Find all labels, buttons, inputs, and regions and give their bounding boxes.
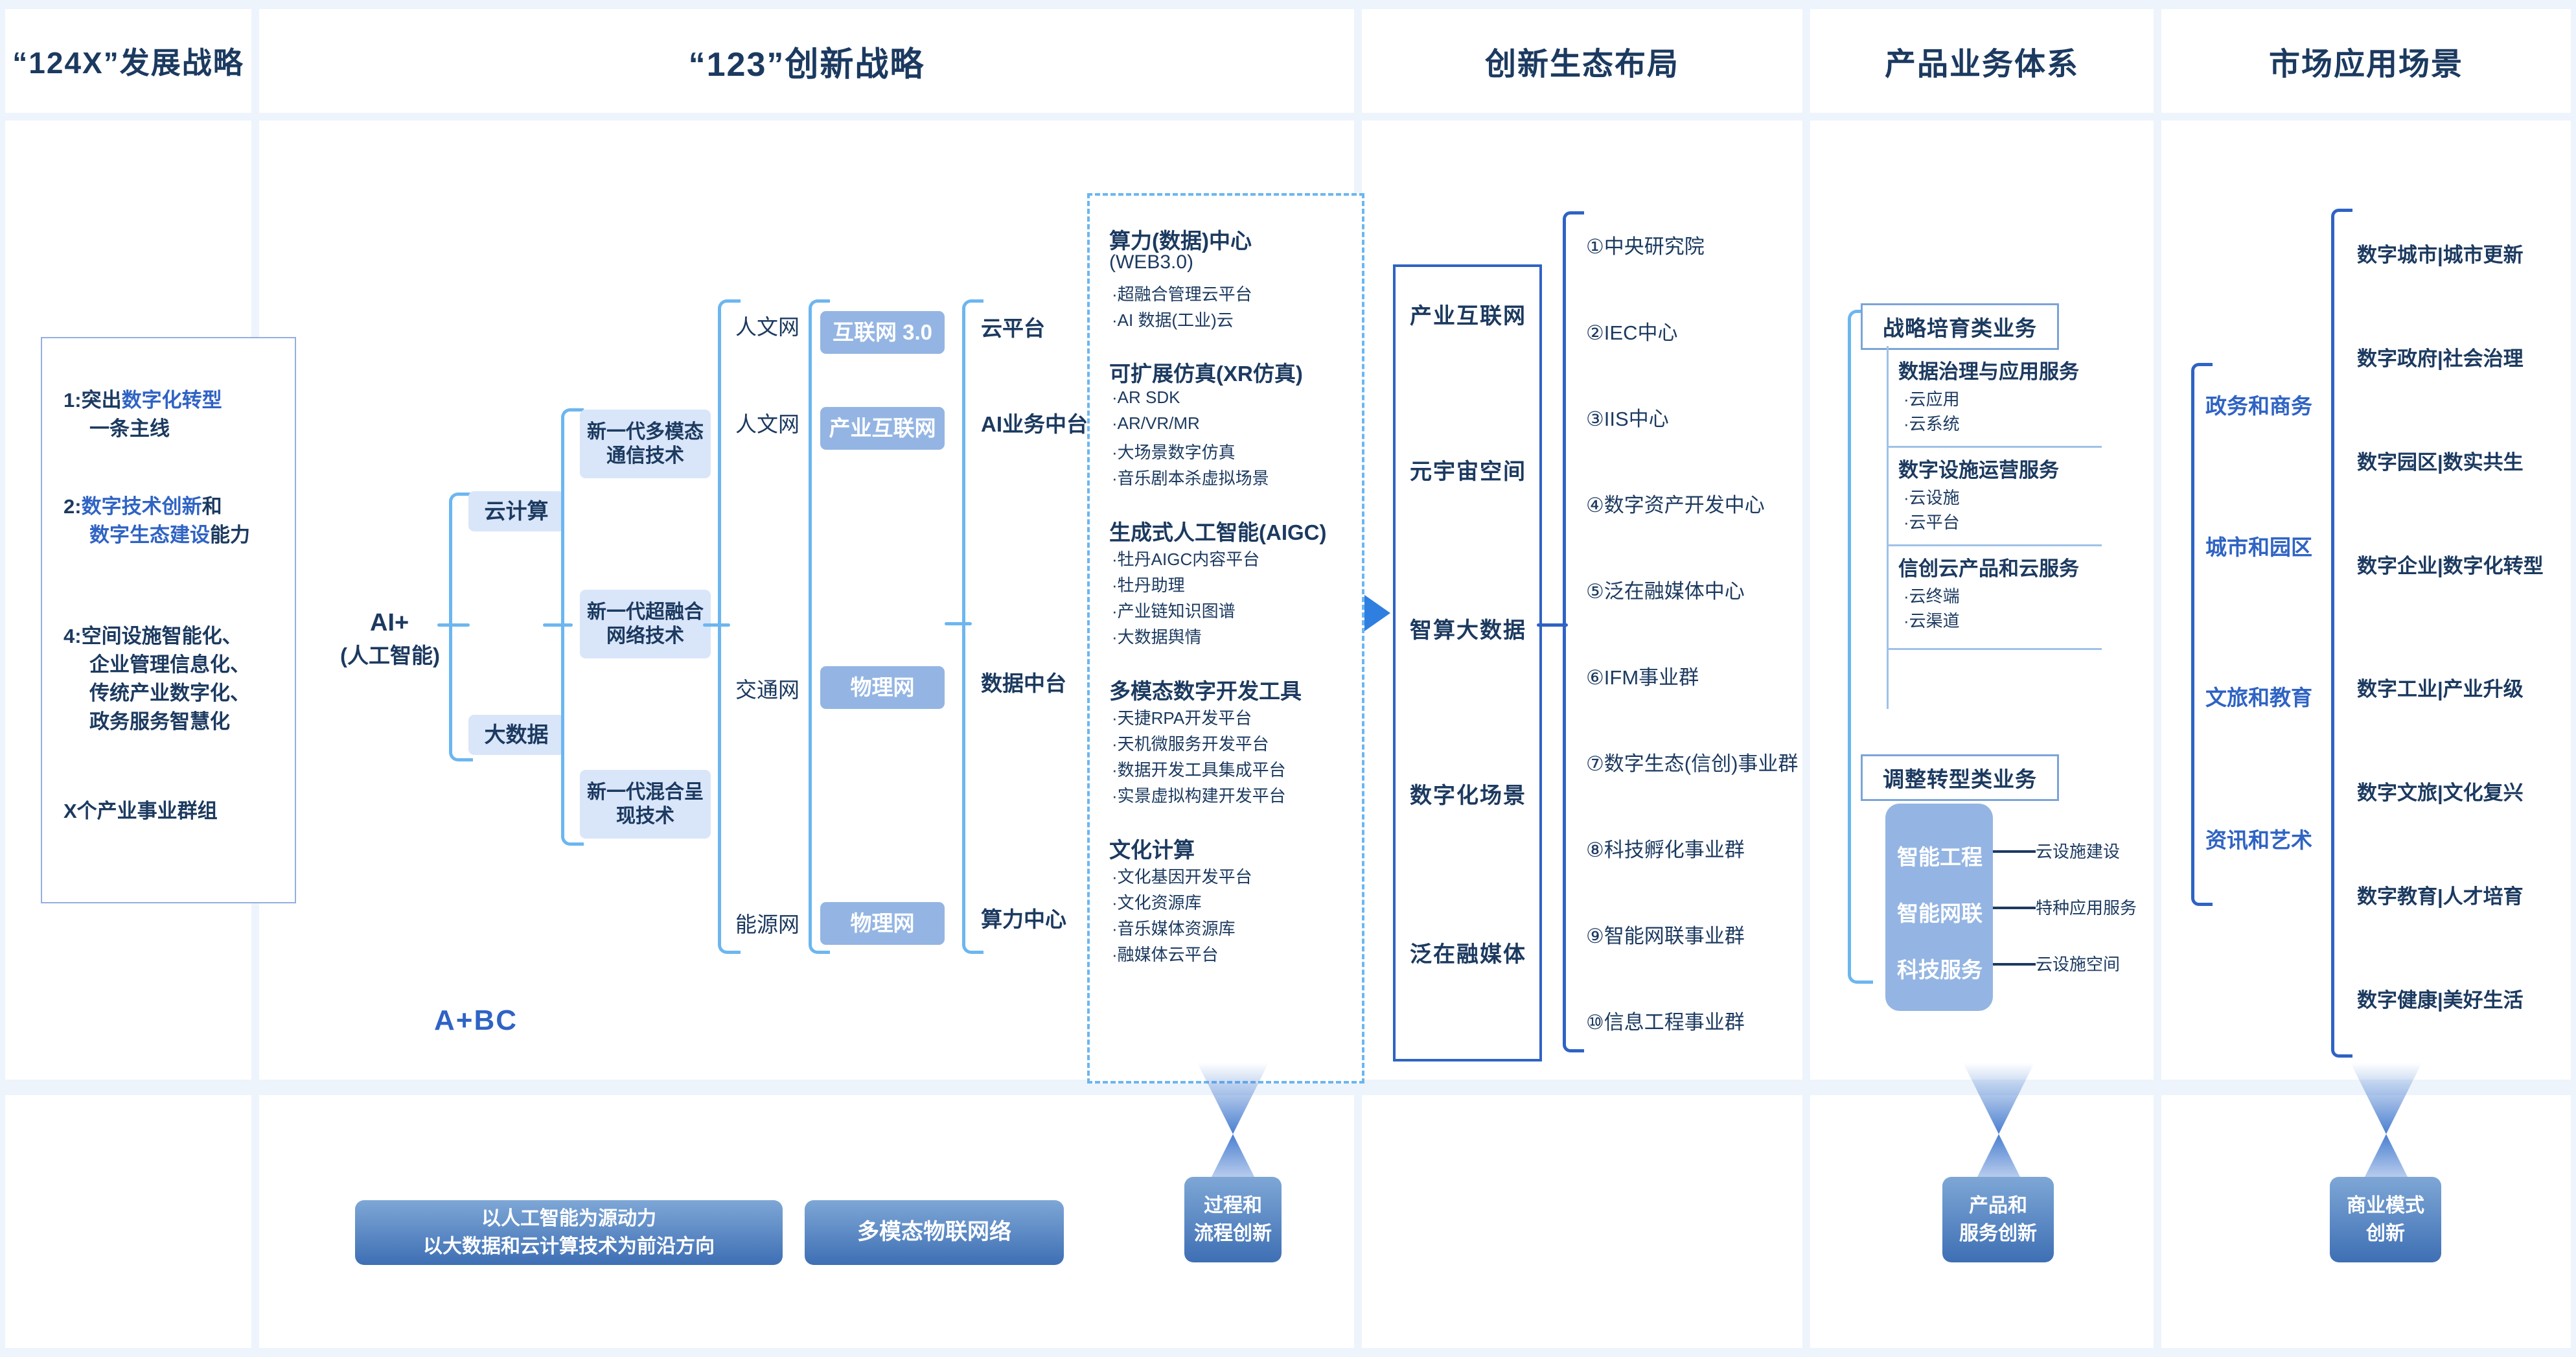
category-strategic-cultivation-label: 战略培育类业务 <box>1883 311 2037 342</box>
platform-label-2: AI业务中台 <box>981 407 1088 438</box>
service-divider-3 <box>1887 648 2102 650</box>
dev-strategy-line-3: 2:数字技术创新和 <box>63 493 222 521</box>
transform-connector-2 <box>1993 907 2036 909</box>
detail-item-5-3: ·音乐媒体资源库 <box>1112 916 1236 940</box>
dev-strategy-line-2: 一条主线 <box>89 415 170 443</box>
market-group-4[interactable]: 资讯和艺术 <box>2205 823 2312 854</box>
dev-strategy-num-2: 2: <box>63 495 82 518</box>
transform-chip-2[interactable]: 智能网联 <box>1897 896 1983 927</box>
column-title-innov-strategy: “123”创新战略 <box>259 9 1354 113</box>
transform-text-2: 特种应用服务 <box>2036 895 2137 919</box>
chip-tech-hybrid-rendering-label: 新一代混合呈现技术 <box>584 780 707 829</box>
market-item-6[interactable]: 数字文旅|文化复兴 <box>2357 776 2524 806</box>
chip-big-data[interactable]: 大数据 <box>468 715 564 755</box>
dev-strategy-line-5: 4:空间设施智能化、 <box>63 622 242 651</box>
eco-pillar-3[interactable]: 智算大数据 <box>1410 612 1526 644</box>
market-item-8[interactable]: 数字健康|美好生活 <box>2357 984 2524 1013</box>
footer-box-process-innovation[interactable]: 过程和 流程创新 <box>1184 1177 1282 1262</box>
footer-box-multimodal-iot[interactable]: 多模态物联网络 <box>805 1200 1064 1265</box>
market-item-5[interactable]: 数字工业|产业升级 <box>2357 673 2524 702</box>
transform-connector-3 <box>1993 963 2036 966</box>
detail-item-1-2: ·AI 数据(工业)云 <box>1112 307 1234 331</box>
service-item-1-1: ·云应用 <box>1903 386 1960 410</box>
footer-box-ai-driver[interactable]: 以人工智能为源动力 以大数据和云计算技术为前沿方向 <box>355 1200 783 1265</box>
footer-product-line1: 产品和 <box>1959 1192 2037 1220</box>
network-label-2: 人文网 <box>735 407 799 438</box>
detail-item-3-4: ·大数据舆情 <box>1112 624 1202 648</box>
service-divider-2 <box>1887 544 2102 546</box>
service-title-1: 数据治理与应用服务 <box>1898 355 2079 384</box>
dev-strategy-accent-3: 数字生态建设 <box>89 524 210 546</box>
footer-ai-l2-pre: 以 <box>423 1236 443 1257</box>
detail-block-title-5: 文化计算 <box>1109 833 1195 864</box>
market-item-1[interactable]: 数字城市|城市更新 <box>2357 238 2524 268</box>
footer-process-line1: 过程和 <box>1194 1192 1272 1220</box>
market-item-4[interactable]: 数字企业|数字化转型 <box>2357 550 2544 579</box>
category-adjust-transform[interactable]: 调整转型类业务 <box>1861 754 2059 801</box>
transform-text-3: 云设施空间 <box>2036 951 2120 975</box>
eco-unit-6[interactable]: ⑥IFM事业群 <box>1586 661 1699 690</box>
detail-block-title-2: 可扩展仿真(XR仿真) <box>1109 356 1303 388</box>
market-item-2[interactable]: 数字政府|社会治理 <box>2357 342 2524 371</box>
dev-strategy-accent-1: 数字化转型 <box>122 389 222 412</box>
footer-ai-l2-post: 技术为前沿方向 <box>579 1236 715 1257</box>
footer-ai-l2-b2: 云计算 <box>520 1236 579 1257</box>
bracket-nets <box>809 299 830 954</box>
platform-label-1: 云平台 <box>981 311 1045 342</box>
eco-unit-4[interactable]: ④数字资产开发中心 <box>1586 489 1765 518</box>
service-item-3-2: ·云渠道 <box>1903 608 1960 632</box>
eco-pillar-1[interactable]: 产业互联网 <box>1410 298 1526 330</box>
dev-strategy-line-6: 企业管理信息化、 <box>89 651 250 679</box>
detail-item-2-3: ·大场景数字仿真 <box>1112 439 1236 463</box>
innov-root-sublabel: (人工智能) <box>340 638 440 669</box>
transform-connector-1 <box>1993 850 2036 853</box>
detail-block-title-1: 算力(数据)中心 <box>1109 224 1252 255</box>
market-item-3[interactable]: 数字园区|数实共生 <box>2357 446 2524 475</box>
footer-multimodal-iot-label: 多模态物联网络 <box>857 1216 1011 1248</box>
network-label-3: 交通网 <box>735 673 799 704</box>
chip-physical-net-2[interactable]: 物理网 <box>820 902 945 945</box>
market-item-7[interactable]: 数字教育|人才培育 <box>2357 880 2524 909</box>
service-item-3-1: ·云终端 <box>1903 583 1960 607</box>
innov-root-label: AI+ <box>370 609 409 637</box>
innov-footnote-abc: A+BC <box>434 1004 518 1037</box>
column-title-product-system: 产品业务体系 <box>1810 9 2154 113</box>
chip-industrial-internet[interactable]: 产业互联网 <box>820 407 945 450</box>
eco-pillar-5[interactable]: 泛在融媒体 <box>1410 936 1526 968</box>
dev-strategy-num-1: 1: <box>63 389 82 412</box>
dev-strategy-line-9: X个产业事业群组 <box>63 797 218 826</box>
footer-business-line1: 商业模式 <box>2347 1192 2424 1220</box>
chip-physical-net-1[interactable]: 物理网 <box>820 666 945 709</box>
column-title-eco-layout: 创新生态布局 <box>1362 9 1802 113</box>
detail-block-subtitle-1: (WEB3.0) <box>1109 251 1193 273</box>
dev-strategy-line-1: 1:突出数字化转型 <box>63 386 222 415</box>
column-title-dev-strategy: “124X”发展战略 <box>5 9 251 113</box>
detail-item-4-3: ·数据开发工具集成平台 <box>1112 757 1286 781</box>
transform-chip-3[interactable]: 科技服务 <box>1897 953 1983 984</box>
network-label-4: 能源网 <box>735 907 799 938</box>
footer-ai-l2-b1: 大数据 <box>443 1236 501 1257</box>
panel-eco-layout-foot <box>1362 1095 1802 1348</box>
chip-tech-hyperconverged-net[interactable]: 新一代超融合网络技术 <box>580 590 711 658</box>
service-title-2: 数字设施运营服务 <box>1898 454 2059 483</box>
diagram-canvas: “124X”发展战略 “123”创新战略 创新生态布局 产品业务体系 市场应用场… <box>0 0 2576 1357</box>
service-item-2-2: ·云平台 <box>1903 509 1960 533</box>
detail-item-5-2: ·文化资源库 <box>1112 890 1202 914</box>
detail-item-5-4: ·融媒体云平台 <box>1112 942 1219 966</box>
eco-unit-8[interactable]: ⑧科技孵化事业群 <box>1586 833 1745 863</box>
chip-tech-hybrid-rendering[interactable]: 新一代混合呈现技术 <box>580 770 711 839</box>
dev-strategy-text-3: 能力 <box>210 524 250 546</box>
footer-ai-l2-mid: 和 <box>501 1236 520 1257</box>
eco-unit-7[interactable]: ⑦数字生态(信创)事业群 <box>1586 747 1798 776</box>
dev-strategy-accent-2: 数字技术创新 <box>82 495 202 518</box>
detail-item-4-4: ·实景虚拟构建开发平台 <box>1112 783 1286 807</box>
dev-strategy-line-7: 传统产业数字化、 <box>89 679 250 708</box>
eco-unit-1[interactable]: ①中央研究院 <box>1586 230 1705 259</box>
eco-unit-9[interactable]: ⑨智能网联事业群 <box>1586 920 1745 949</box>
market-group-3[interactable]: 文旅和教育 <box>2205 680 2312 712</box>
category-strategic-cultivation[interactable]: 战略培育类业务 <box>1861 303 2059 350</box>
chip-tech-multimodal-comm-label: 新一代多模态通信技术 <box>584 420 707 469</box>
column-title-market-scenarios: 市场应用场景 <box>2161 9 2571 113</box>
market-group-1[interactable]: 政务和商务 <box>2205 389 2312 420</box>
eco-unit-5[interactable]: ⑤泛在融媒体中心 <box>1586 575 1745 604</box>
dev-strategy-line-4: 数字生态建设能力 <box>89 521 250 550</box>
chip-tech-multimodal-comm[interactable]: 新一代多模态通信技术 <box>580 410 711 478</box>
bracket-platforms <box>962 299 983 954</box>
detail-item-4-2: ·天机微服务开发平台 <box>1112 731 1269 755</box>
transform-text-1: 云设施建设 <box>2036 839 2120 863</box>
detail-item-3-1: ·牡丹AIGC内容平台 <box>1112 546 1259 570</box>
detail-item-4-1: ·天捷RPA开发平台 <box>1112 705 1252 729</box>
eco-unit-2[interactable]: ②IEC中心 <box>1586 316 1677 345</box>
service-divider-1 <box>1887 446 2102 448</box>
network-label-1: 人文网 <box>735 310 799 341</box>
footer-ai-driver-line1: 以人工智能为源动力 <box>423 1205 715 1233</box>
dev-strategy-num-4: 4: <box>63 625 82 647</box>
transform-chip-1[interactable]: 智能工程 <box>1897 840 1983 871</box>
eco-pillar-2[interactable]: 元宇宙空间 <box>1410 454 1526 485</box>
footer-box-product-service-innovation[interactable]: 产品和 服务创新 <box>1942 1177 2054 1262</box>
dev-strategy-text-1a: 突出 <box>82 389 122 412</box>
detail-block-title-4: 多模态数字开发工具 <box>1109 674 1302 705</box>
eco-unit-3[interactable]: ③IIS中心 <box>1586 402 1669 432</box>
chip-tech-hyperconverged-net-label: 新一代超融合网络技术 <box>584 600 707 649</box>
market-group-2[interactable]: 城市和园区 <box>2205 530 2312 561</box>
dev-strategy-text-2b: 和 <box>202 495 222 518</box>
flow-arrow-icon <box>1364 595 1390 631</box>
detail-item-2-1: ·AR SDK <box>1112 388 1180 408</box>
chip-internet-30[interactable]: 互联网 3.0 <box>820 311 945 354</box>
dev-strategy-text-4: 空间设施智能化、 <box>82 625 242 647</box>
category-adjust-transform-label: 调整转型类业务 <box>1883 762 2037 793</box>
detail-item-2-2: ·AR/VR/MR <box>1112 413 1200 434</box>
footer-process-line2: 流程创新 <box>1194 1220 1272 1248</box>
strategic-group-rail <box>1887 346 1889 709</box>
bracket-networks <box>718 299 741 954</box>
service-item-2-1: ·云设施 <box>1903 485 1960 509</box>
eco-unit-10[interactable]: ⑩信息工程事业群 <box>1586 1006 1745 1035</box>
footer-product-line2: 服务创新 <box>1959 1220 2037 1248</box>
detail-block-title-3: 生成式人工智能(AIGC) <box>1109 515 1326 546</box>
footer-business-line2: 创新 <box>2347 1220 2424 1248</box>
bracket-market-items <box>2331 209 2352 1058</box>
bracket-eco-units <box>1563 211 1584 1052</box>
detail-item-3-3: ·产业链知识图谱 <box>1112 598 1236 622</box>
footer-ai-driver-line2: 以大数据和云计算技术为前沿方向 <box>423 1233 715 1261</box>
bracket-product-outer <box>1848 310 1873 984</box>
dev-strategy-line-8: 政务服务智慧化 <box>89 708 230 736</box>
chip-cloud-computing[interactable]: 云计算 <box>468 491 564 531</box>
service-title-3: 信创云产品和云服务 <box>1898 552 2079 581</box>
detail-item-2-4: ·音乐剧本杀虚拟场景 <box>1112 465 1269 489</box>
platform-label-3: 数据中台 <box>981 666 1066 697</box>
service-item-1-2: ·云系统 <box>1903 411 1960 435</box>
detail-item-5-1: ·文化基因开发平台 <box>1112 864 1252 888</box>
footer-box-business-model-innovation[interactable]: 商业模式 创新 <box>2330 1177 2441 1262</box>
panel-dev-strategy-foot <box>5 1095 251 1348</box>
eco-pillar-4[interactable]: 数字化场景 <box>1410 778 1526 809</box>
detail-item-3-2: ·牡丹助理 <box>1112 572 1185 596</box>
platform-label-4: 算力中心 <box>981 902 1066 933</box>
detail-item-1-1: ·超融合管理云平台 <box>1112 281 1252 305</box>
